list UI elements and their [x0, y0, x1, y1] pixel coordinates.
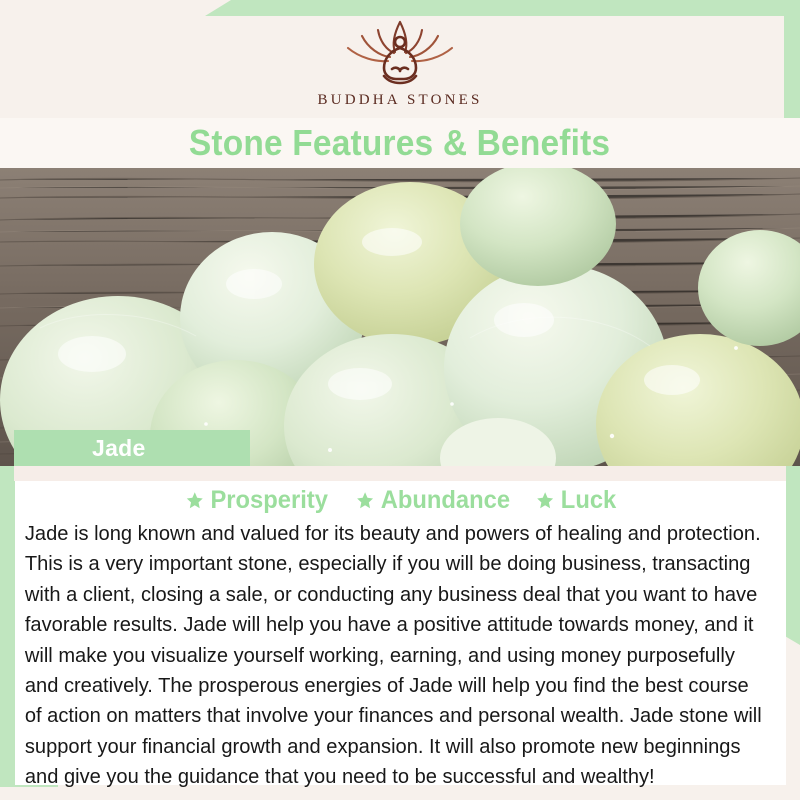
stone-photo-image: [0, 168, 800, 466]
photo-card-divider: [14, 466, 786, 481]
frame-accent-top: [205, 0, 800, 16]
benefit-label-luck: Luck: [561, 486, 616, 515]
content-card: Prosperity Abundance Luck Jade is long k…: [15, 481, 786, 785]
brand-logo: BUDDHA STONES: [0, 18, 800, 118]
brand-name: BUDDHA STONES: [317, 92, 482, 109]
poster-root: BUDDHA STONES Stone Features & Benefits: [0, 0, 800, 800]
stone-name-label: Jade: [92, 435, 146, 462]
stone-description: Jade is long known and valued for its be…: [15, 517, 774, 793]
stone-name-band: Jade: [14, 430, 250, 466]
lotus-meditation-icon: [340, 18, 460, 88]
benefit-label-prosperity: Prosperity: [211, 486, 328, 515]
star-icon: [186, 491, 204, 510]
benefit-item-abundance: Abundance: [356, 486, 510, 515]
benefit-label-abundance: Abundance: [381, 486, 510, 515]
stone-photo: [0, 168, 800, 466]
benefit-item-luck: Luck: [536, 486, 616, 515]
star-icon: [356, 491, 374, 510]
title-band: Stone Features & Benefits: [0, 118, 800, 168]
page-title: Stone Features & Benefits: [189, 122, 610, 164]
benefit-item-prosperity: Prosperity: [186, 486, 328, 515]
star-icon: [536, 491, 554, 510]
benefits-list: Prosperity Abundance Luck: [15, 481, 786, 517]
